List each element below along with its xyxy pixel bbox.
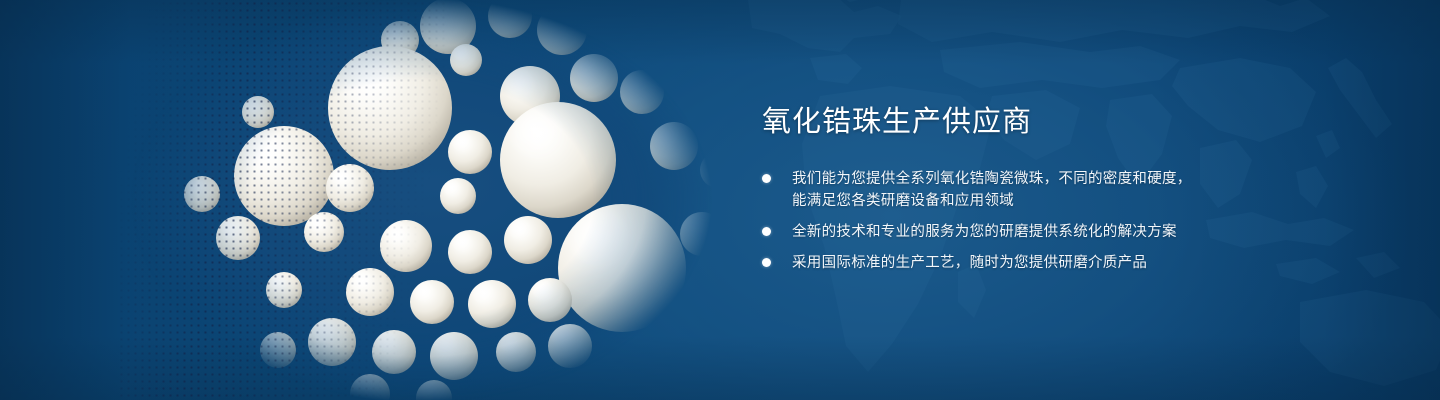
- bullet-text: 全新的技术和专业的服务为您的研磨提供系统化的解决方案: [792, 221, 1322, 243]
- bullet-text: 能满足您各类研磨设备和应用领域: [792, 190, 1322, 212]
- page-title: 氧化锆珠生产供应商: [762, 104, 1322, 140]
- list-item: 采用国际标准的生产工艺，随时为您提供研磨介质产品: [762, 252, 1322, 274]
- banner-copy: 氧化锆珠生产供应商 我们能为您提供全系列氧化锆陶瓷微珠，不同的密度和硬度， 能满…: [762, 104, 1322, 274]
- zirconia-beads-photo: [118, 0, 778, 400]
- bullet-text: 我们能为您提供全系列氧化锆陶瓷微珠，不同的密度和硬度，: [792, 168, 1322, 190]
- hero-banner: 氧化锆珠生产供应商 我们能为您提供全系列氧化锆陶瓷微珠，不同的密度和硬度， 能满…: [0, 0, 1440, 400]
- list-item: 全新的技术和专业的服务为您的研磨提供系统化的解决方案: [762, 221, 1322, 243]
- bullet-text: 采用国际标准的生产工艺，随时为您提供研磨介质产品: [792, 252, 1322, 274]
- bullet-dot-icon: [762, 227, 771, 236]
- bullet-dot-icon: [762, 174, 771, 183]
- list-item: 我们能为您提供全系列氧化锆陶瓷微珠，不同的密度和硬度， 能满足您各类研磨设备和应…: [762, 168, 1322, 212]
- bullet-dot-icon: [762, 258, 771, 267]
- feature-bullet-list: 我们能为您提供全系列氧化锆陶瓷微珠，不同的密度和硬度， 能满足您各类研磨设备和应…: [762, 168, 1322, 274]
